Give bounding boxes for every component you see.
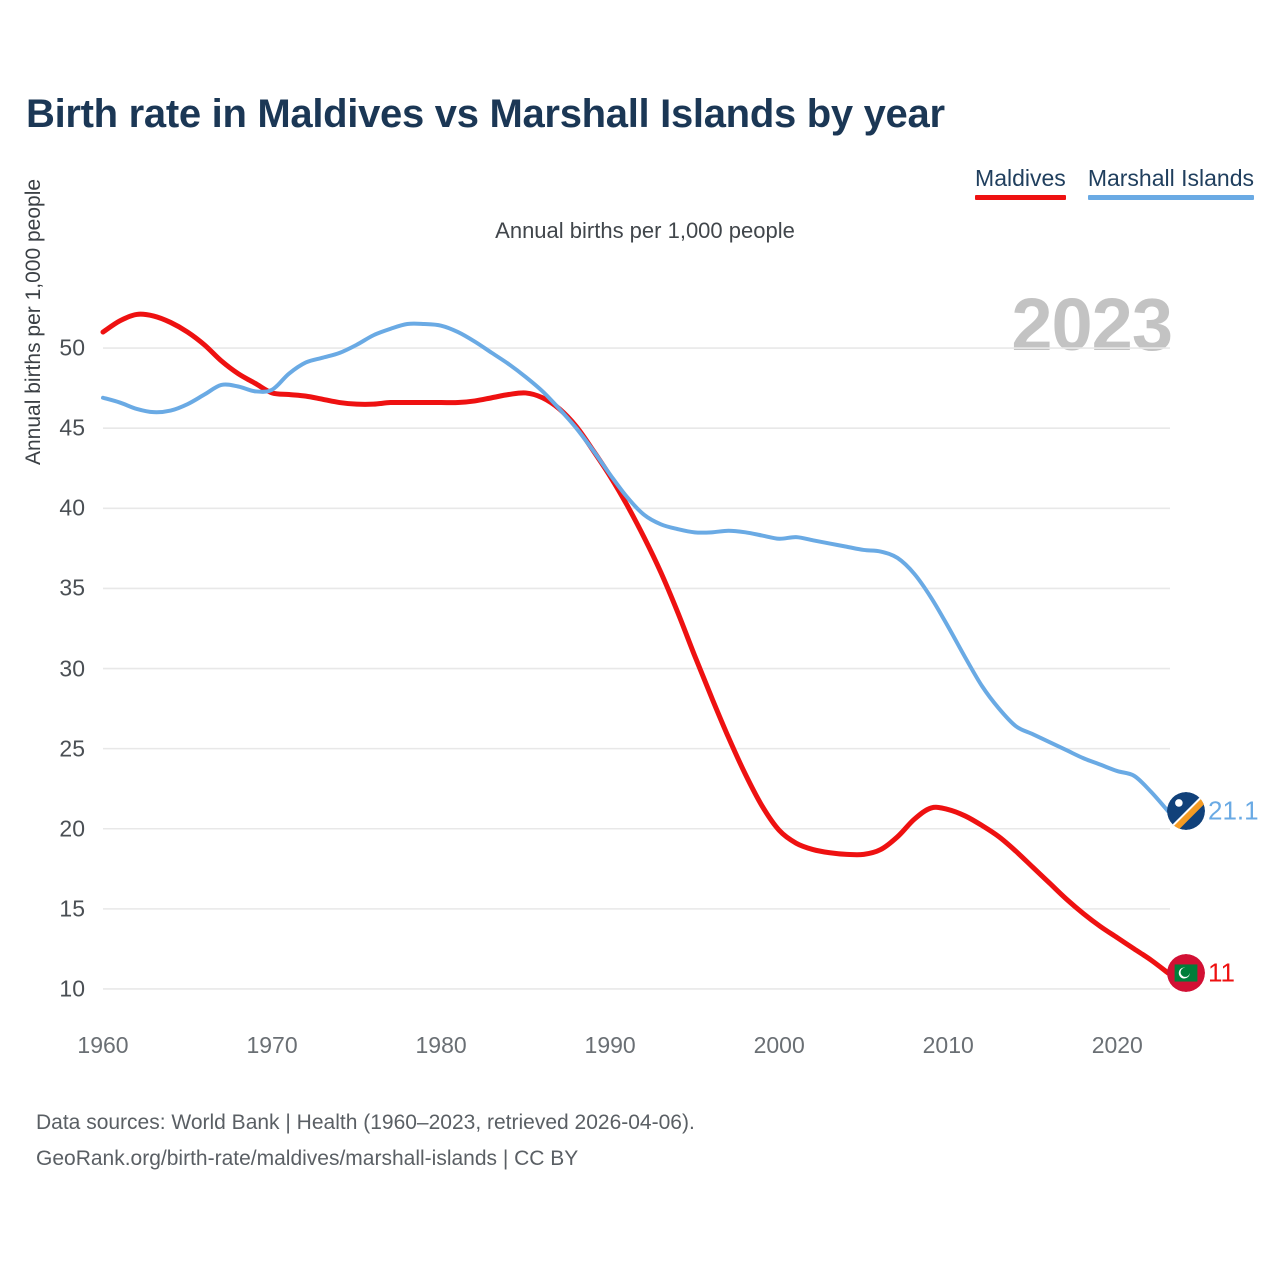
marshall-islands-flag-icon: [1167, 792, 1205, 830]
y-tick-label: 50: [25, 335, 85, 362]
chart-page: Birth rate in Maldives vs Marshall Islan…: [0, 0, 1280, 1280]
chart-plot-area: [0, 0, 1280, 1280]
x-tick-label: 2010: [898, 1032, 998, 1059]
maldives-flag-icon: [1167, 954, 1205, 992]
y-tick-label: 25: [25, 735, 85, 762]
footer: Data sources: World Bank | Health (1960–…: [36, 1105, 695, 1177]
series-lines: [103, 314, 1168, 973]
footer-attribution: GeoRank.org/birth-rate/maldives/marshall…: [36, 1141, 695, 1177]
x-tick-label: 1990: [560, 1032, 660, 1059]
y-tick-label: 20: [25, 815, 85, 842]
y-tick-label: 10: [25, 975, 85, 1002]
maldives-end-value: 11: [1208, 957, 1235, 988]
x-tick-label: 2000: [729, 1032, 829, 1059]
y-tick-label: 30: [25, 655, 85, 682]
x-tick-label: 1960: [53, 1032, 153, 1059]
marshall-islands-end-value: 21.1: [1208, 796, 1259, 827]
series-line-maldives: [103, 314, 1168, 973]
gridlines: [103, 348, 1170, 989]
x-tick-label: 1980: [391, 1032, 491, 1059]
y-tick-label: 40: [25, 495, 85, 522]
footer-data-sources: Data sources: World Bank | Health (1960–…: [36, 1105, 695, 1141]
y-tick-label: 45: [25, 415, 85, 442]
x-tick-label: 2020: [1067, 1032, 1167, 1059]
x-tick-label: 1970: [222, 1032, 322, 1059]
series-line-marshall-islands: [103, 324, 1168, 812]
y-tick-label: 35: [25, 575, 85, 602]
y-tick-label: 15: [25, 895, 85, 922]
